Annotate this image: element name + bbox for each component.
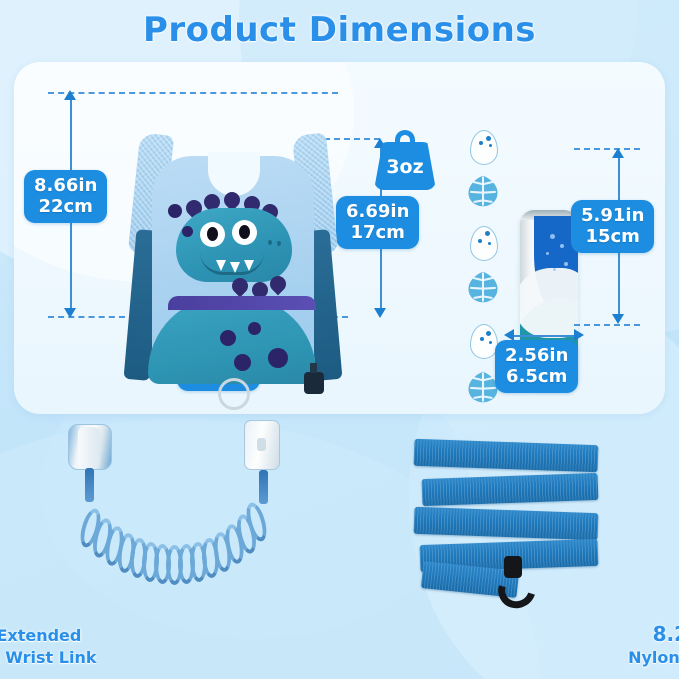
dinosaur-backpack-image (126, 134, 340, 406)
wrist-link-qualifier: Extended (0, 626, 81, 645)
can-width-measure-line (512, 335, 578, 337)
guide-line-can-bottom (574, 324, 640, 326)
badge-height: 8.66in 22cm (24, 170, 107, 223)
wrist-link-image (44, 420, 344, 605)
pouch-zipper (168, 296, 316, 310)
badge-can-height-inches: 5.91in (581, 205, 644, 226)
can-height-arrow-bottom (612, 314, 624, 324)
dino-eye-right (232, 220, 257, 245)
badge-depth-cm: 17cm (346, 222, 409, 243)
wrist-link-name: Anti-lost Wrist Link (0, 648, 349, 667)
badge-depth: 6.69in 17cm (336, 196, 419, 249)
page-title: Product Dimensions (0, 10, 679, 50)
guide-line-can-top (574, 148, 640, 150)
dino-egg-icon (470, 324, 498, 359)
dimensions-card: 8.66in 22cm 6.69in 17cm 8.27in 21cm 3oz (14, 62, 665, 414)
bottom-products: 8.2ft Extended Anti-lost Wrist Link 8.2f… (0, 418, 679, 679)
height-arrow-bottom (64, 308, 76, 318)
dino-egg-icon (470, 226, 498, 261)
nylon-rope-image (400, 424, 630, 604)
snap-hook (496, 556, 542, 608)
can-white-wave (520, 268, 578, 338)
rope-fold-3 (414, 507, 599, 540)
hook-curve (492, 565, 542, 615)
wrist-link-caption: 8.2ft Extended Anti-lost Wrist Link (0, 622, 349, 667)
weight-value: 3oz (374, 156, 436, 178)
nylon-rope-length: 8.2ft (653, 622, 679, 646)
monstera-leaf-icon (466, 174, 500, 208)
nylon-rope-name: Nylon Rope (340, 648, 679, 667)
depth-arrow-bottom (374, 308, 386, 318)
panel-notch (208, 152, 260, 196)
side-buckle (304, 372, 324, 394)
nylon-rope-caption: 8.2ft Nylon Rope (340, 622, 679, 667)
front-pouch (148, 296, 316, 384)
rope-fold-1 (414, 439, 599, 472)
badge-depth-inches: 6.69in (346, 201, 409, 222)
infographic-page: Product Dimensions 8.66in 22cm 6.69in 17… (0, 0, 679, 679)
badge-can-height-cm: 15cm (581, 226, 644, 247)
monstera-leaf-icon (466, 270, 500, 304)
badge-can-height: 5.91in 15cm (571, 200, 654, 253)
coiled-cord (44, 420, 344, 605)
badge-height-cm: 22cm (34, 196, 97, 217)
badge-can-width-cm: 6.5cm (505, 366, 568, 387)
can-width-arrow-right (574, 329, 584, 341)
rope-fold-2 (422, 473, 599, 506)
dino-face (170, 196, 294, 288)
d-ring (218, 378, 250, 410)
weight-tag-icon: 3oz (374, 128, 436, 190)
dino-egg-icon (470, 130, 498, 165)
badge-can-width-inches: 2.56in (505, 345, 568, 366)
can-height-arrow-top (612, 148, 624, 158)
badge-height-inches: 8.66in (34, 175, 97, 196)
badge-can-width: 2.56in 6.5cm (495, 340, 578, 393)
dino-head (176, 208, 292, 282)
height-arrow-top (64, 90, 76, 100)
dino-eye-left (200, 222, 225, 247)
guide-line-top (48, 92, 338, 94)
